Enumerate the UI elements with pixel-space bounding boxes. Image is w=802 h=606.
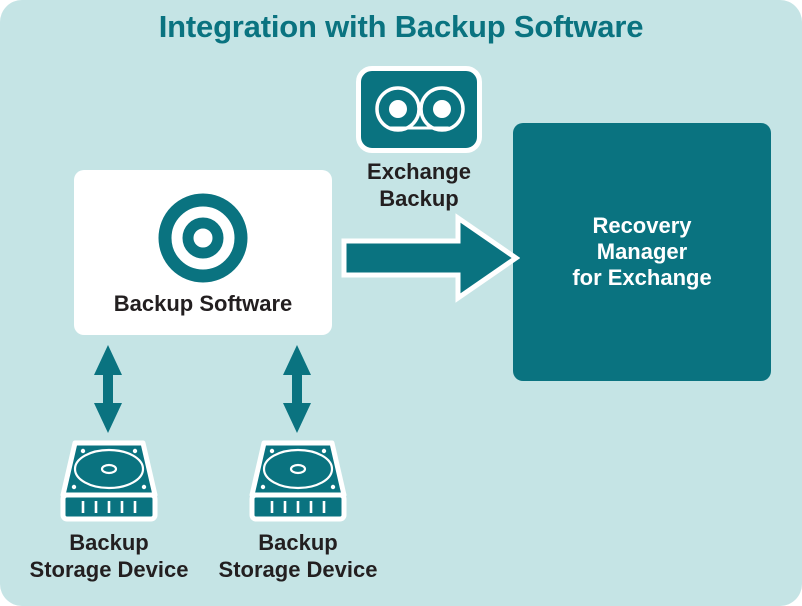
exchange-backup-label-line2: Backup	[326, 185, 512, 212]
recovery-manager-label: Recovery Manager for Exchange	[513, 213, 771, 291]
tape-cassette-icon	[356, 66, 482, 153]
exchange-backup-node[interactable]	[356, 66, 482, 153]
storage-device-right-label-line2: Storage Device	[203, 556, 393, 583]
diagram-canvas: Integration with Backup Software Exchang…	[0, 0, 802, 606]
page-title: Integration with Backup Software	[0, 9, 802, 45]
storage-device-left-label-line1: Backup	[14, 529, 204, 556]
backup-software-label: Backup Software	[74, 291, 332, 317]
exchange-backup-label-line1: Exchange	[326, 158, 512, 185]
recovery-manager-label-line2: Manager	[513, 239, 771, 265]
hard-drive-icon-left[interactable]	[57, 437, 161, 523]
storage-device-left-label: Backup Storage Device	[14, 529, 204, 583]
storage-device-left-label-line2: Storage Device	[14, 556, 204, 583]
backup-software-node[interactable]: Backup Software	[74, 170, 332, 335]
recovery-manager-label-line1: Recovery	[513, 213, 771, 239]
exchange-backup-label: Exchange Backup	[326, 158, 512, 212]
storage-device-right-label: Backup Storage Device	[203, 529, 393, 583]
storage-device-right-label-line1: Backup	[203, 529, 393, 556]
recovery-manager-label-line3: for Exchange	[513, 265, 771, 291]
recovery-manager-node[interactable]: Recovery Manager for Exchange	[513, 123, 771, 381]
right-arrow-icon	[340, 213, 520, 303]
double-headed-vertical-arrow-icon-right	[278, 343, 316, 435]
hard-drive-icon-right[interactable]	[246, 437, 350, 523]
optical-disc-icon	[157, 192, 249, 284]
double-headed-vertical-arrow-icon-left	[89, 343, 127, 435]
